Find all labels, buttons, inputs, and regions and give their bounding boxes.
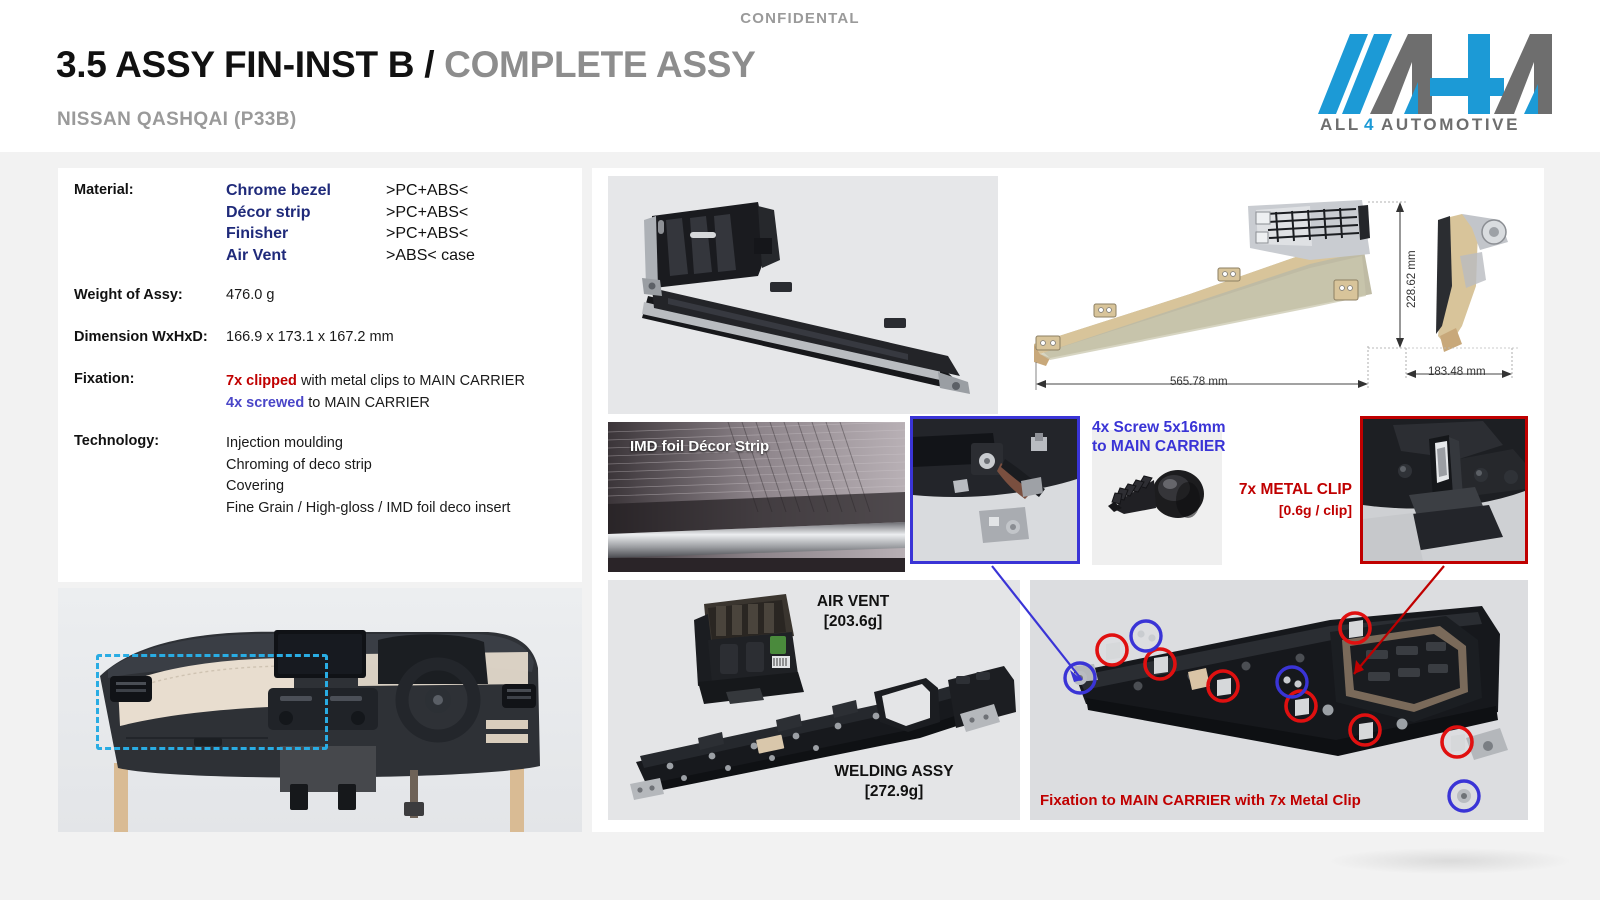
cad-drawing-illustration [1010, 176, 1528, 414]
technology-label: Technology: [74, 433, 159, 449]
material-name: Chrome bezel [226, 182, 386, 200]
screw-callout-label: 4x Screw 5x16mm to MAIN CARRIER [1092, 418, 1226, 456]
fixation-clipped-line: 7x clipped with metal clips to MAIN CARR… [226, 371, 525, 393]
technology-list: Injection moulding Chroming of deco stri… [226, 433, 510, 519]
fixation-value: 7x clipped with metal clips to MAIN CARR… [226, 371, 525, 414]
material-list: Chrome bezel>PC+ABS< Décor strip>PC+ABS<… [226, 182, 475, 268]
page-subtitle: NISSAN QASHQAI (P33B) [57, 109, 297, 131]
imd-foil-label: IMD foil Décor Strip [630, 438, 769, 455]
material-value: >PC+ABS< [386, 204, 468, 221]
technology-item: Covering [226, 476, 510, 498]
company-logo: ALL 4 AUTOMOTIVE [1308, 26, 1578, 134]
page-title: 3.5 ASSY FIN-INST B / COMPLETE ASSY [56, 44, 755, 86]
assembled-part-illustration [608, 176, 998, 414]
fixation-illustration [1030, 580, 1528, 820]
technology-item: Chroming of deco strip [226, 455, 510, 477]
svg-text:AUTOMOTIVE: AUTOMOTIVE [1381, 115, 1520, 134]
technology-item: Injection moulding [226, 433, 510, 455]
fixation-screwed-line: 4x screwed to MAIN CARRIER [226, 393, 525, 415]
material-value: >PC+ABS< [386, 225, 468, 242]
welding-assy-callout: WELDING ASSY [272.9g] [814, 762, 974, 802]
material-row: Chrome bezel>PC+ABS< [226, 182, 475, 204]
weight-label: Weight of Assy: [74, 287, 183, 303]
metal-clip-callout-weight: [0.6g / clip] [1224, 500, 1352, 520]
fixation-label: Fixation: [74, 371, 134, 387]
assembled-part-photo [608, 176, 998, 414]
welding-assy-weight: [272.9g] [814, 782, 974, 802]
fixation-caption: Fixation to MAIN CARRIER with 7x Metal C… [1040, 792, 1361, 809]
dashboard-photo [58, 588, 582, 832]
material-label: Material: [74, 182, 134, 198]
cad-dim-height: 228.62 mm [1406, 250, 1418, 308]
fixation-clip-text: with metal clips to MAIN CARRIER [297, 373, 525, 389]
svg-text:4: 4 [1364, 115, 1376, 134]
material-value: >ABS< case [386, 247, 475, 264]
slide-header: CONFIDENTAL 3.5 ASSY FIN-INST B / COMPLE… [0, 0, 1600, 152]
screw-callout-line2: to MAIN CARRIER [1092, 437, 1226, 456]
fixation-clip-count: 7x clipped [226, 373, 297, 389]
air-vent-label: AIR VENT [788, 592, 918, 612]
material-row: Décor strip>PC+ABS< [226, 204, 475, 226]
material-row: Finisher>PC+ABS< [226, 225, 475, 247]
screw-detail-illustration [913, 419, 1077, 561]
svg-text:ALL: ALL [1320, 115, 1361, 134]
fixation-screw-count: 4x screwed [226, 395, 304, 411]
confidential-marking: CONFIDENTAL [0, 10, 1600, 27]
material-name: Air Vent [226, 247, 386, 265]
cad-dim-length: 565.78 mm [1170, 376, 1228, 388]
component-highlight-box [96, 654, 328, 750]
air-vent-weight: [203.6g] [788, 612, 918, 632]
screw-fixation-detail-photo [910, 416, 1080, 564]
fixation-points-photo [1030, 580, 1528, 820]
metal-clip-detail-photo [1360, 416, 1528, 564]
technology-item: Fine Grain / High-gloss / IMD foil deco … [226, 498, 510, 520]
page-title-secondary: COMPLETE ASSY [444, 44, 755, 85]
page-watermark [1330, 848, 1570, 874]
welding-assy-label: WELDING ASSY [814, 762, 974, 782]
metal-clip-illustration [1363, 419, 1525, 561]
cad-dimension-drawing: 565.78 mm 228.62 mm 183.48 mm [1010, 176, 1528, 414]
component-gallery-panel: 565.78 mm 228.62 mm 183.48 mm [592, 168, 1544, 832]
material-value: >PC+ABS< [386, 182, 468, 199]
imd-foil-strip-photo: IMD foil Décor Strip [608, 422, 905, 572]
fixation-screw-text: to MAIN CARRIER [304, 395, 430, 411]
dimension-label: Dimension WxHxD: [74, 329, 208, 345]
material-row: Air Vent>ABS< case [226, 247, 475, 269]
screw-callout-line1: 4x Screw 5x16mm [1092, 418, 1226, 437]
metal-clip-callout-title: 7x METAL CLIP [1224, 480, 1352, 500]
dimension-value: 166.9 x 173.1 x 167.2 mm [226, 329, 394, 345]
weight-value: 476.0 g [226, 287, 274, 303]
cad-dim-depth: 183.48 mm [1428, 366, 1486, 378]
material-name: Finisher [226, 225, 386, 243]
a4a-logo-icon: ALL 4 AUTOMOTIVE [1308, 26, 1578, 134]
page-title-primary: 3.5 ASSY FIN-INST B / [56, 44, 444, 85]
metal-clip-callout-label: 7x METAL CLIP [0.6g / clip] [1224, 480, 1352, 520]
specification-panel: Material: Chrome bezel>PC+ABS< Décor str… [58, 168, 582, 582]
air-vent-callout: AIR VENT [203.6g] [788, 592, 918, 632]
material-name: Décor strip [226, 204, 386, 222]
